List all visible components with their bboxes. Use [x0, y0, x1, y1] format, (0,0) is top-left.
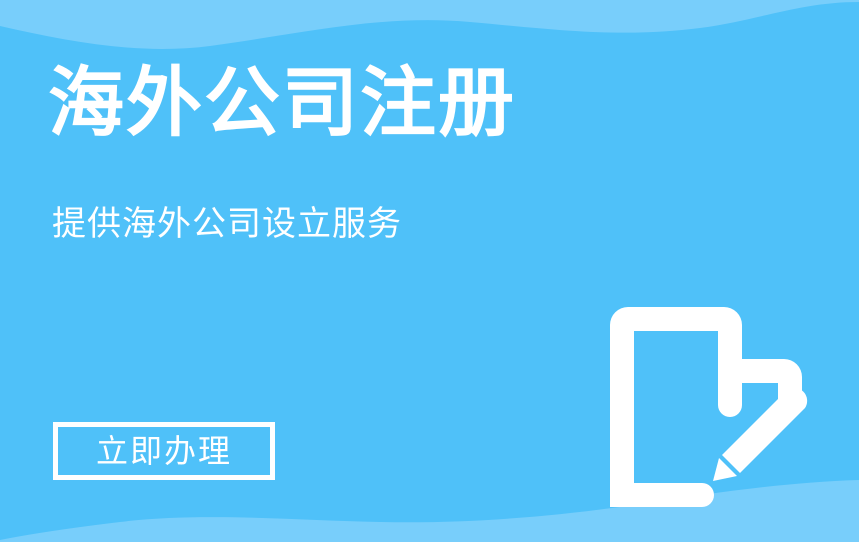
apply-now-button[interactable]: 立即办理: [53, 422, 275, 480]
banner-text-content: 海外公司注册 提供海外公司设立服务 立即办理: [48, 0, 608, 542]
banner-headline: 海外公司注册: [48, 66, 516, 142]
banner-subheadline: 提供海外公司设立服务: [52, 207, 402, 241]
overseas-company-registration-banner: 海外公司注册 提供海外公司设立服务 立即办理: [0, 0, 859, 542]
building-with-pencil-icon: [606, 301, 814, 515]
